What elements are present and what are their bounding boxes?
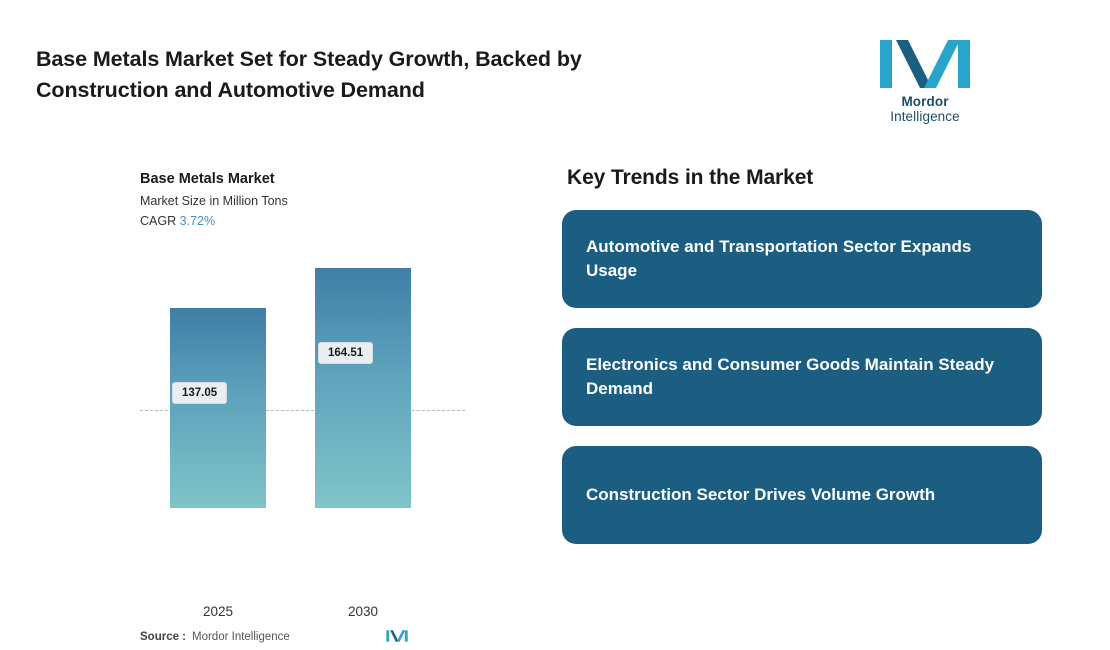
brand-logo-text: Mordor Intelligence [866,94,984,124]
brand-name-light: Intelligence [890,109,960,124]
page-title: Base Metals Market Set for Steady Growth… [36,44,696,105]
chart-title: Base Metals Market [140,171,275,187]
bar-value-label-2030: 164.51 [318,342,373,364]
bar-value-label-2025: 137.05 [172,382,227,404]
trend-card[interactable]: Construction Sector Drives Volume Growth [562,446,1042,544]
source-mordor-m-logo-icon [383,628,411,644]
cagr-value: 3.72% [180,214,215,228]
chart-source: Source : Mordor Intelligence [140,628,510,650]
chart-panel: Base Metals Market Market Size in Millio… [110,158,510,568]
mordor-m-logo-icon [866,38,984,90]
chart-cagr: CAGR 3.72% [140,214,215,228]
bar-2030 [315,268,411,508]
bar-chart-plot: 137.05 164.51 2025 2030 Source : Mordor … [110,248,510,508]
bar-2025 [170,308,266,508]
source-label: Source : [140,631,186,643]
cagr-label: CAGR [140,214,176,228]
key-trends-panel: Key Trends in the Market Automotive and … [562,158,1042,544]
trend-card-label: Construction Sector Drives Volume Growth [586,483,935,507]
x-axis-tick-2025: 2025 [163,604,273,619]
trend-card-label: Electronics and Consumer Goods Maintain … [586,353,1018,401]
chart-subtitle: Market Size in Million Tons [140,194,288,208]
brand-name-bold: Mordor [901,94,948,109]
key-trends-title: Key Trends in the Market [567,166,1042,190]
page-header: Base Metals Market Set for Steady Growth… [0,0,1110,140]
trend-card-label: Automotive and Transportation Sector Exp… [586,235,1018,283]
brand-logo: Mordor Intelligence [866,38,986,114]
trend-card[interactable]: Electronics and Consumer Goods Maintain … [562,328,1042,426]
source-value: Mordor Intelligence [192,631,290,643]
trend-card[interactable]: Automotive and Transportation Sector Exp… [562,210,1042,308]
x-axis-tick-2030: 2030 [308,604,418,619]
